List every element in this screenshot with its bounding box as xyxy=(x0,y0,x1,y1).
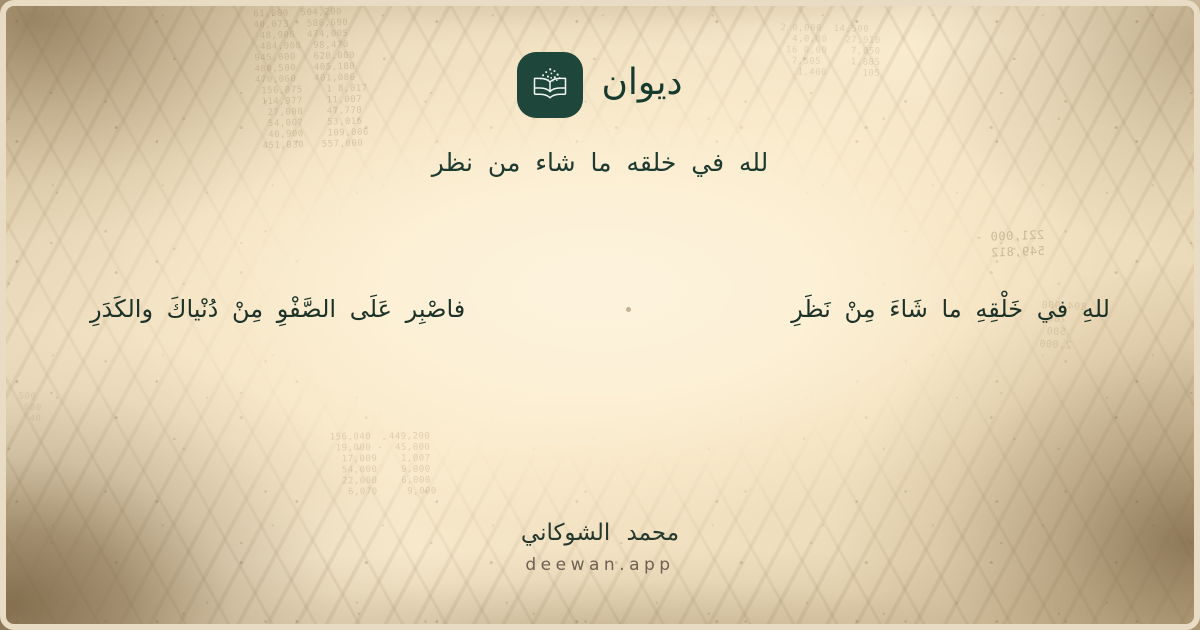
poem-share-card: 61,000 504,200 40,073 - 586,690 48,906 4… xyxy=(0,0,1200,630)
brand-name: ديوان xyxy=(601,65,682,105)
verse-line: للهِ في خَلْقِهِ ما شَاءَ مِنْ نَظَرِ فا… xyxy=(80,290,1120,330)
open-book-with-sparkles-icon xyxy=(517,52,583,118)
poet-name: محمد الشوكاني xyxy=(521,522,679,545)
poem-title: لله في خلقه ما شاء من نظر xyxy=(432,144,769,182)
verse-separator-dot xyxy=(626,307,631,312)
card-footer: محمد الشوكاني deewan.app xyxy=(0,522,1200,574)
card-content: ديوان لله في خلقه ما شاء من نظر للهِ في … xyxy=(0,0,1200,630)
verse-left-hemistich: فاصْبِر عَلَى الصَّفْوِ مِنْ دُنْياكَ وا… xyxy=(80,290,465,330)
brand-header: ديوان xyxy=(517,52,682,118)
verse-right-hemistich: للهِ في خَلْقِهِ ما شَاءَ مِنْ نَظَرِ xyxy=(791,290,1120,330)
site-url: deewan.app xyxy=(525,557,674,574)
